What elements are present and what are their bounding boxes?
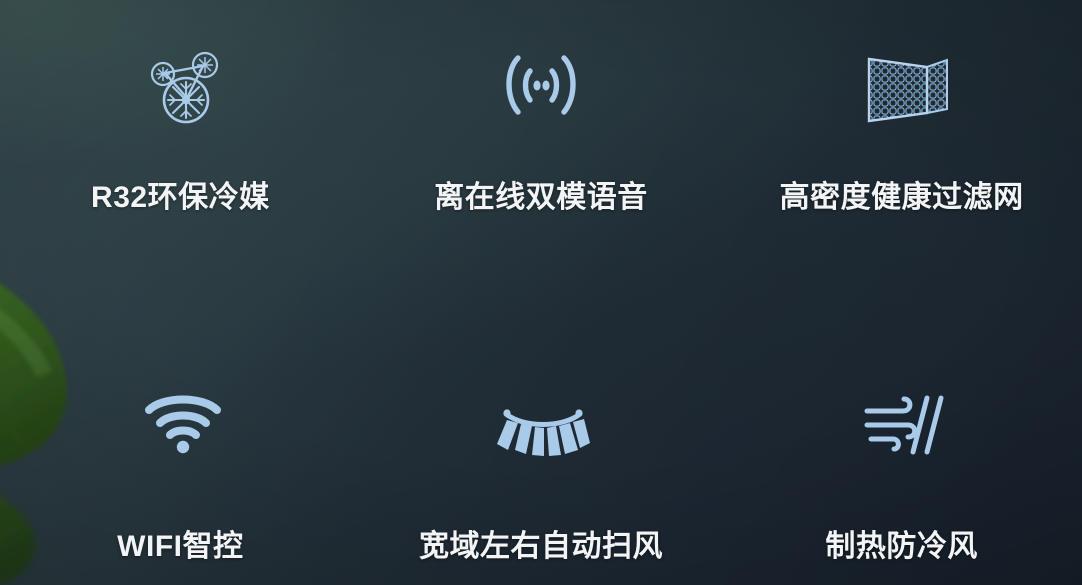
feature-item-wide-swing[interactable]: 宽域左右自动扫风 xyxy=(361,293,722,585)
refrigerant-molecule-icon xyxy=(130,36,238,140)
feature-item-anti-cold-air[interactable]: 制热防冷风 xyxy=(721,293,1082,585)
voice-wave-icon xyxy=(487,34,595,138)
feature-label: 宽域左右自动扫风 xyxy=(419,521,663,565)
feature-label: 制热防冷风 xyxy=(825,521,978,565)
feature-label: 高密度健康过滤网 xyxy=(780,172,1024,216)
feature-item-r32-refrigerant[interactable]: R32环保冷媒 xyxy=(0,0,361,293)
filter-mesh-icon xyxy=(853,34,961,138)
feature-item-wifi-control[interactable]: WIFI智控 xyxy=(0,293,361,585)
feature-item-health-filter[interactable]: 高密度健康过滤网 xyxy=(721,0,1082,293)
feature-showcase-panel: R32环保冷媒 离在线双模语音 xyxy=(0,0,1082,585)
wifi-icon xyxy=(129,371,237,475)
feature-label: WIFI智控 xyxy=(117,521,243,565)
feature-label: 离在线双模语音 xyxy=(434,172,648,216)
feature-grid: R32环保冷媒 离在线双模语音 xyxy=(0,0,1082,585)
louver-swing-icon xyxy=(489,377,597,481)
feature-label: R32环保冷媒 xyxy=(91,172,270,216)
feature-item-dual-mode-voice[interactable]: 离在线双模语音 xyxy=(361,0,722,293)
airflow-wind-icon xyxy=(851,373,959,477)
